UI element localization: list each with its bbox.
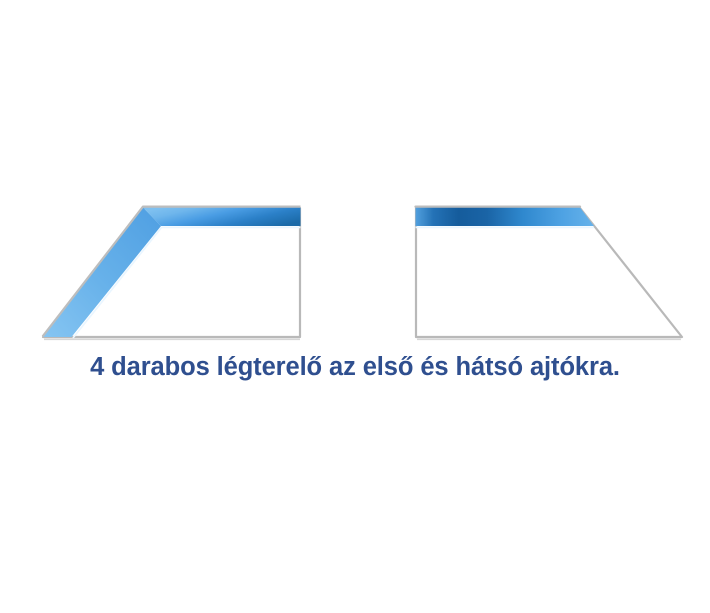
rear-door-deflector	[416, 207, 683, 340]
wind-deflector-pair-illustration	[0, 0, 710, 350]
front-door-deflector-blue-strip	[143, 208, 301, 227]
product-caption: 4 darabos légterelő az első és hátsó ajt…	[0, 352, 710, 382]
front-door-deflector	[43, 207, 301, 340]
illustration-stage: 4 darabos légterelő az első és hátsó ajt…	[0, 0, 710, 613]
rear-door-deflector-blue-strip	[416, 208, 595, 227]
